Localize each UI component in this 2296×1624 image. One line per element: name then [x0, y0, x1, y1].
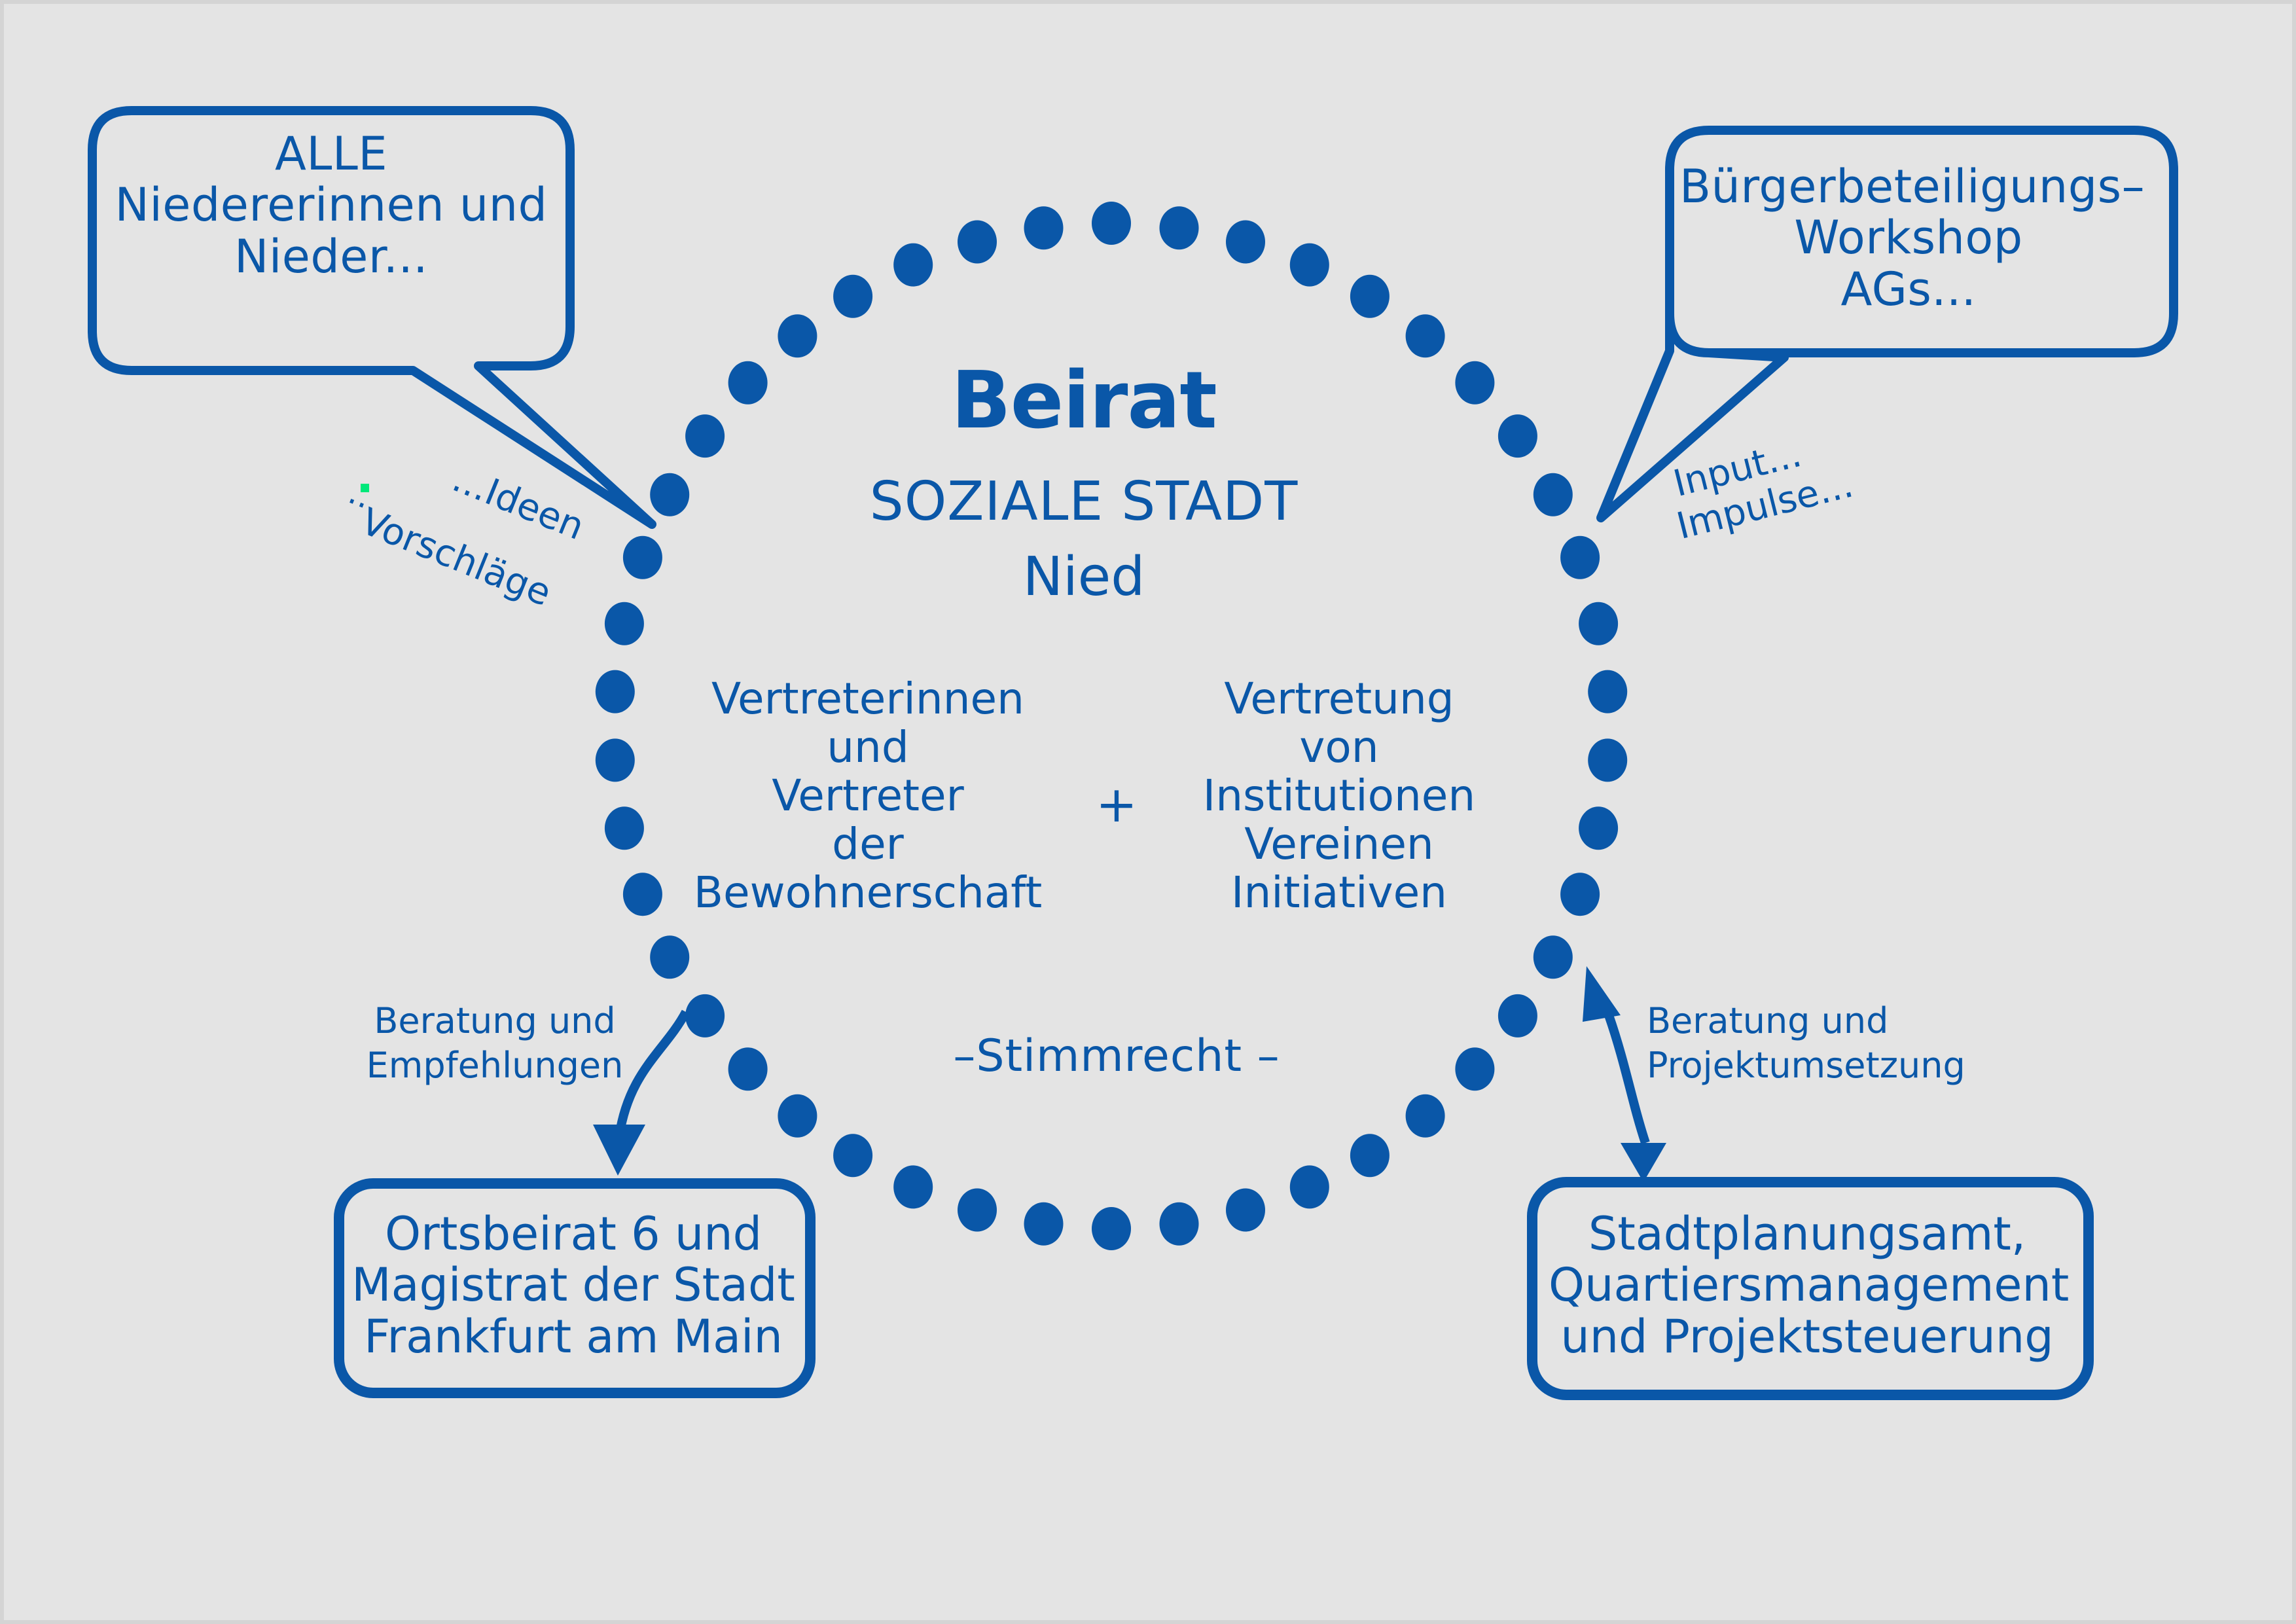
voting-rights-label: –Stimmrecht –: [946, 1032, 1287, 1081]
circle-dot: [1290, 1165, 1329, 1208]
circle-dot: [1588, 738, 1627, 782]
page-subtitle-line2: Nied: [842, 547, 1326, 607]
circle-dot: [833, 1134, 872, 1177]
circle-dot: [1498, 994, 1537, 1038]
circle-dot: [893, 244, 933, 287]
circle-dot: [728, 1047, 768, 1091]
diagram-canvas: ALLE Niedererinnen und Nieder... Bürgerb…: [0, 0, 2296, 1624]
circle-dot: [1024, 206, 1064, 249]
circle-dot: [685, 994, 725, 1038]
circle-dot: [1092, 1207, 1131, 1250]
circle-dot: [623, 873, 662, 916]
annotation-beratung-projektumsetzung: Beratung und Projektumsetzung: [1647, 999, 1987, 1087]
circle-dot: [778, 314, 817, 357]
bubble-top-right-text: Bürgerbeteiligungs– Workshop AGs...: [1679, 161, 2138, 315]
circle-dot: [958, 1189, 997, 1232]
circle-dot: [596, 738, 635, 782]
page-subtitle-line1: SOZIALE STADT: [842, 472, 1326, 532]
circle-dot: [1350, 275, 1390, 318]
circle-dot: [1406, 1094, 1445, 1138]
circle-dot: [623, 536, 662, 579]
circle-dot: [1588, 670, 1627, 713]
circle-dot: [1226, 1189, 1265, 1232]
circle-dot: [1406, 314, 1445, 357]
circle-dot: [1579, 806, 1618, 850]
green-square-marker: [361, 484, 369, 492]
circle-dot: [1560, 873, 1600, 916]
bubble-top-left-text: ALLE Niedererinnen und Nieder...: [102, 128, 560, 282]
circle-dot: [1579, 602, 1618, 645]
circle-dot: [893, 1165, 933, 1208]
circle-dot: [1455, 361, 1494, 405]
page-title: Beirat: [842, 357, 1326, 445]
circle-dot: [1160, 206, 1199, 249]
circle-dot: [650, 473, 689, 516]
circle-dot: [958, 221, 997, 264]
circle-dot: [1560, 536, 1600, 579]
box-bottom-left-text: Ortsbeirat 6 und Magistrat der Stadt Fra…: [344, 1208, 802, 1362]
box-bottom-right-text: Stadtplanungsamt, Quartiersmanagement un…: [1549, 1208, 2066, 1362]
member-column-institutions: Vertretung von Institutionen Vereinen In…: [1162, 675, 1516, 917]
circle-dot: [605, 806, 644, 850]
circle-dot: [1092, 202, 1131, 245]
plus-operator: +: [1077, 776, 1156, 832]
circle-dot: [1160, 1202, 1199, 1246]
circle-dot: [650, 935, 689, 979]
circle-dot: [833, 275, 872, 318]
circle-dot: [1350, 1134, 1390, 1177]
circle-dot: [605, 602, 644, 645]
annotation-beratung-empfehlungen: Beratung und Empfehlungen: [357, 999, 632, 1087]
circle-dot: [685, 414, 725, 458]
circle-dot: [1290, 244, 1329, 287]
circle-dot: [728, 361, 768, 405]
circle-dot: [1226, 221, 1265, 264]
member-column-residents: Vertreterinnen und Vertreter der Bewohne…: [665, 675, 1071, 917]
circle-dot: [1534, 473, 1573, 516]
circle-dot: [596, 670, 635, 713]
circle-dot: [1534, 935, 1573, 979]
circle-dot: [778, 1094, 817, 1138]
circle-dot: [1455, 1047, 1494, 1091]
circle-dot: [1024, 1202, 1064, 1246]
circle-dot: [1498, 414, 1537, 458]
